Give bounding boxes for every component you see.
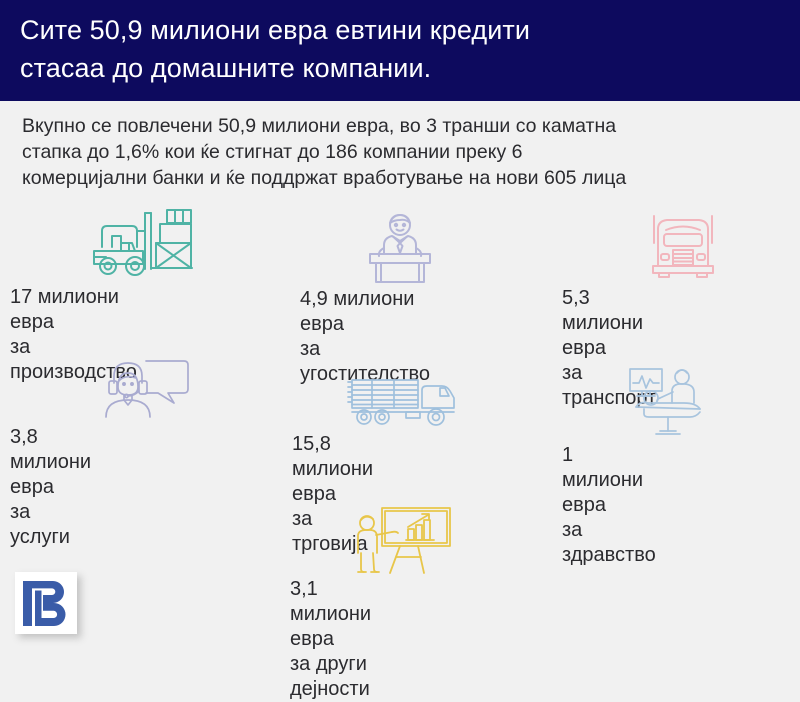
forklift-icon [88, 207, 198, 279]
truck-front-icon [640, 213, 726, 279]
infographic-root: Сите 50,9 милиони евра евтини кредити ст… [0, 0, 800, 653]
healthcare-icon [624, 365, 718, 437]
waiter-podium-icon [348, 212, 452, 284]
sector-label: 1 милиони евра за здравство [562, 443, 656, 568]
page-title: Сите 50,9 милиони евра евтини кредити ст… [20, 11, 780, 87]
subtitle-text: Вкупно се повлечени 50,9 милиони евра, в… [22, 113, 784, 191]
sector-label: 3,8 милиони евра за услуги [10, 425, 91, 550]
pb-logo[interactable] [15, 572, 77, 634]
presenter-chart-icon [348, 505, 458, 575]
cargo-truck-icon [344, 372, 468, 430]
sector-label: 3,1 милиони евра за други дејности [290, 577, 371, 702]
headset-support-icon [88, 357, 192, 419]
pb-logo-mark [23, 581, 69, 626]
header-band: Сите 50,9 милиони евра евтини кредити ст… [0, 0, 800, 101]
